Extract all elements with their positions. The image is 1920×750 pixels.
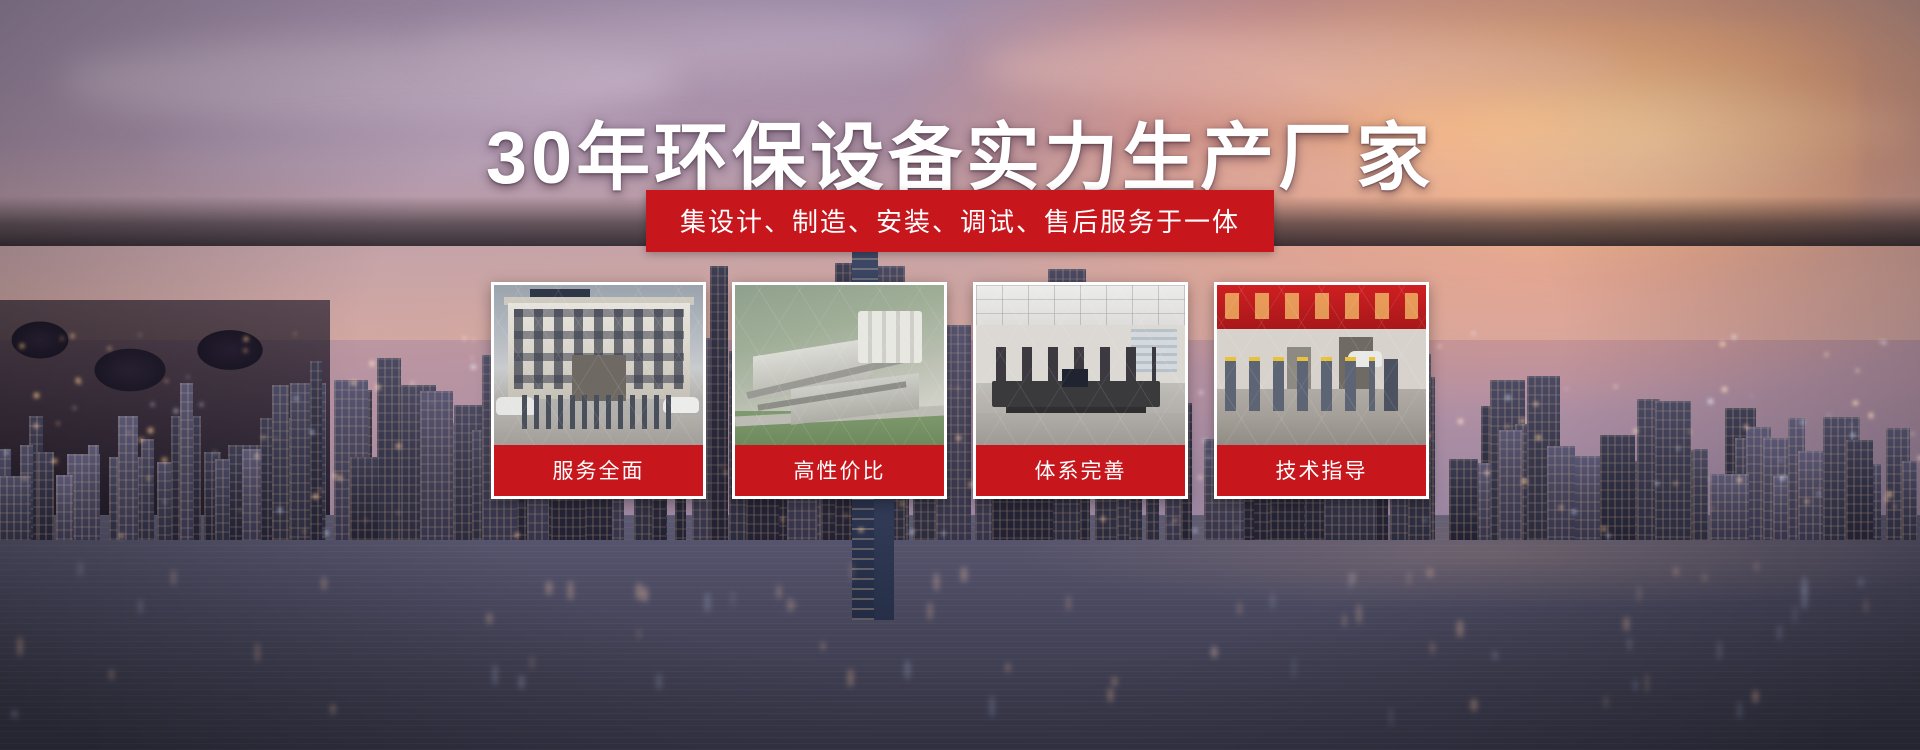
card-caption: 服务全面 [494, 445, 703, 496]
card-caption: 技术指导 [1217, 445, 1426, 496]
feature-card[interactable]: 高性价比 [732, 282, 947, 499]
card-caption: 高性价比 [735, 445, 944, 496]
feature-card[interactable]: 技术指导 [1214, 282, 1429, 499]
card-image-value [735, 285, 944, 445]
card-image-service [494, 285, 703, 445]
feature-card-list: 服务全面 高性价比 体系完善 [491, 282, 1429, 499]
hero-banner: 30年环保设备实力生产厂家 集设计、制造、安装、调试、售后服务于一体 服务全面 [0, 0, 1920, 750]
feature-card[interactable]: 体系完善 [973, 282, 1188, 499]
card-caption: 体系完善 [976, 445, 1185, 496]
feature-card[interactable]: 服务全面 [491, 282, 706, 499]
subtitle-banner: 集设计、制造、安装、调试、售后服务于一体 [646, 190, 1274, 252]
page-title: 30年环保设备实力生产厂家 [0, 98, 1920, 205]
card-image-system [976, 285, 1185, 445]
card-image-guidance [1217, 285, 1426, 445]
